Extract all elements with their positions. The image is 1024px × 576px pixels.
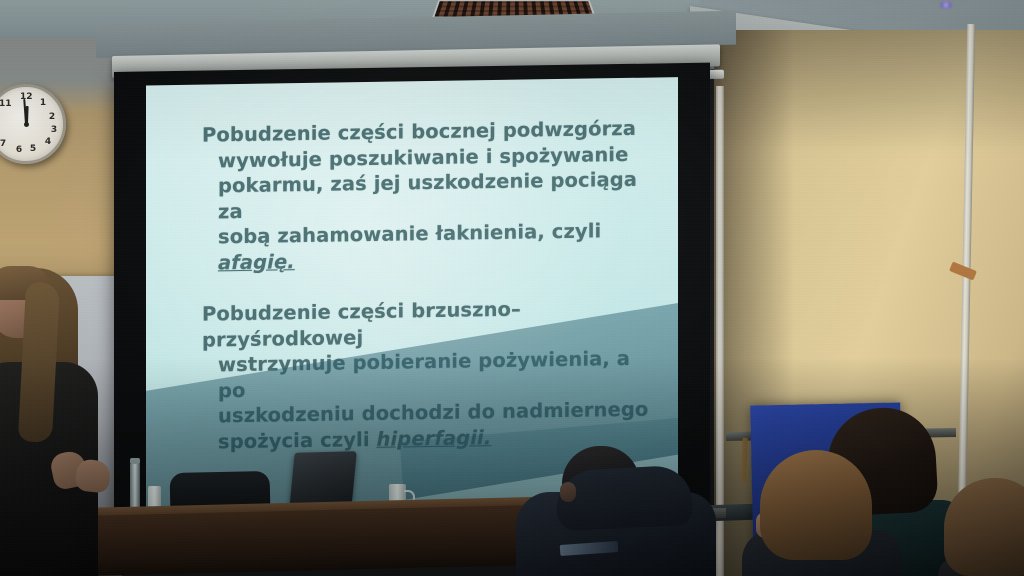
wall-conduit-left-icon <box>716 86 724 576</box>
clock-numeral-4: 4 <box>42 137 54 147</box>
slide-p2-line-4-text: spożycia czyli <box>218 427 377 452</box>
slide-p2-line-1: Pobudzenie części brzuszno– przyśrodkowe… <box>202 294 658 352</box>
clock-numeral-11: 11 <box>0 99 11 109</box>
water-bottle-cap-icon <box>130 458 140 464</box>
slide-p1-line-4-text: sobą zahamowanie łaknienia, czyli <box>218 219 601 248</box>
clock-numeral-3: 3 <box>48 125 60 135</box>
desk-front-panel <box>80 505 550 576</box>
clock-numeral-12: 12 <box>20 92 32 102</box>
student-right-front-head <box>760 450 872 560</box>
lecture-hall-photo: 12 1 2 3 4 5 6 7 11 Pobudzenie części bo… <box>0 0 1024 576</box>
student-center-ear <box>560 482 576 502</box>
slide-p2-line-2: wstrzymuje pobieranie pożywienia, a po <box>202 345 658 403</box>
clock-numeral-7: 7 <box>0 139 9 149</box>
clock-numeral-1: 1 <box>37 98 49 108</box>
student-center-hood <box>555 464 694 531</box>
slide-paragraph-1: Pobudzenie części bocznej podwzgórza wyw… <box>202 115 658 275</box>
slide-paragraph-2: Pobudzenie części brzuszno– przyśrodkowe… <box>202 294 658 454</box>
clock-numeral-2: 2 <box>46 112 58 122</box>
clock-numeral-5: 5 <box>27 144 39 154</box>
slide-content: Pobudzenie części bocznej podwzgórza wyw… <box>202 115 658 480</box>
slide-term-afagie: afagię. <box>218 250 295 274</box>
slide-p1-line-3: pokarmu, zaś jej uszkodzenie pociąga za <box>202 166 658 224</box>
indicator-led-icon <box>938 2 954 8</box>
water-bottle-icon <box>130 462 140 512</box>
slide-p1-line-4: sobą zahamowanie łaknienia, czyli afagię… <box>202 217 658 275</box>
clock-center-pin <box>24 122 29 127</box>
clock-numeral-6: 6 <box>13 145 25 155</box>
slide-term-hiperfagii: hiperfagii. <box>377 426 492 451</box>
